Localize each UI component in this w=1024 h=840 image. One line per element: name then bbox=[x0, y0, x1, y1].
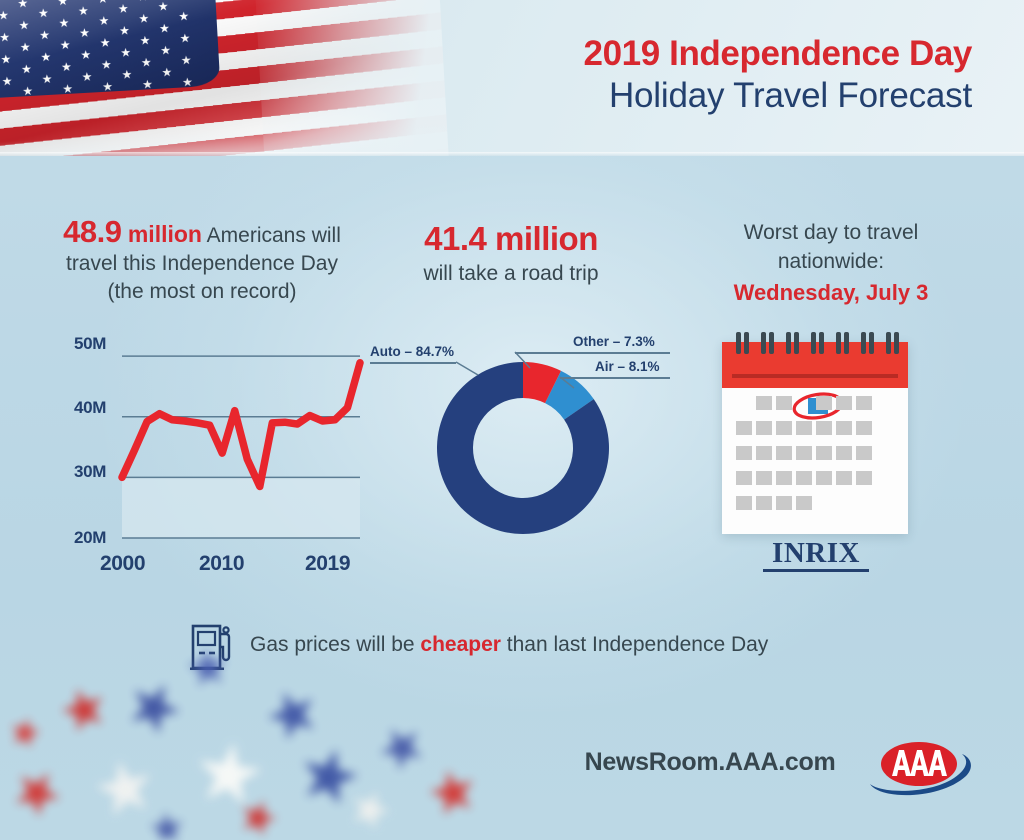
line-chart-svg bbox=[60, 328, 370, 578]
stat-total-number: 48.9 bbox=[63, 214, 121, 249]
stat-total-line-3: (the most on record) bbox=[28, 278, 376, 306]
stat-worst-day-line-2: nationwide: bbox=[676, 247, 986, 276]
donut-leader-air bbox=[560, 377, 670, 379]
stat-worst-day-line-1: Worst day to travel bbox=[676, 218, 986, 247]
donut-label-other: Other – 7.3% bbox=[573, 334, 655, 349]
donut-leader-other bbox=[515, 352, 670, 354]
header-banner: ★★★★★★★★★★★★★★★★★★★★★★★★★★★★★★★★★★★★★★★★… bbox=[0, 0, 1024, 156]
donut-label-auto: Auto – 84.7% bbox=[370, 344, 454, 359]
aaa-logo bbox=[866, 728, 976, 804]
travel-volume-line-chart: 50M 40M 30M 20M 2000 2010 2019 bbox=[60, 328, 370, 578]
donut-leader-auto bbox=[370, 362, 456, 364]
x-tick-2010: 2010 bbox=[199, 552, 244, 576]
inrix-logo: INRIX bbox=[706, 538, 926, 572]
stat-total-rest: Americans will bbox=[202, 224, 341, 247]
stat-road-trip-subtitle: will take a road trip bbox=[423, 262, 598, 285]
y-tick-30m: 30M bbox=[74, 462, 106, 482]
stat-total-unit: million bbox=[128, 221, 202, 247]
inrix-wordmark: INRIX bbox=[706, 538, 926, 568]
usa-flag-photo: ★★★★★★★★★★★★★★★★★★★★★★★★★★★★★★★★★★★★★★★★… bbox=[0, 0, 449, 156]
calendar-icon bbox=[722, 342, 908, 534]
stat-total-line-2: travel this Independence Day bbox=[28, 250, 376, 278]
title-line-2: Holiday Travel Forecast bbox=[584, 74, 972, 118]
newsroom-url: NewsRoom.AAA.com bbox=[560, 748, 860, 777]
travel-mode-donut-chart: Auto – 84.7% Other – 7.3% Air – 8.1% bbox=[370, 326, 670, 578]
y-tick-40m: 40M bbox=[74, 398, 106, 418]
y-tick-20m: 20M bbox=[74, 528, 106, 548]
x-tick-2019: 2019 bbox=[305, 552, 350, 576]
inrix-underline bbox=[763, 569, 869, 572]
infographic-root: ★★★★★★★★★★★★★★★★★★★★★★★★★★★★★★★★★★★★★★★★… bbox=[0, 0, 1024, 840]
stat-total-travelers: 48.9 million Americans will travel this … bbox=[28, 218, 376, 306]
calendar-illustration: INRIX bbox=[706, 332, 926, 582]
header-divider bbox=[0, 152, 1024, 156]
header-title: 2019 Independence Day Holiday Travel For… bbox=[584, 34, 972, 118]
gas-text-after: than last Independence Day bbox=[501, 633, 768, 656]
stat-total-line-1: 48.9 million Americans will bbox=[28, 218, 376, 250]
stat-road-trip: 41.4 million will take a road trip bbox=[380, 218, 642, 288]
stat-road-trip-number: 41.4 million bbox=[380, 218, 642, 260]
y-tick-50m: 50M bbox=[74, 334, 106, 354]
stat-worst-day: Worst day to travel nationwide: Wednesda… bbox=[676, 218, 986, 307]
stat-worst-day-value: Wednesday, July 3 bbox=[676, 278, 986, 307]
donut-label-air: Air – 8.1% bbox=[595, 359, 660, 374]
star-confetti-photo bbox=[0, 630, 520, 840]
calendar-date-grid bbox=[736, 396, 896, 521]
x-tick-2000: 2000 bbox=[100, 552, 145, 576]
calendar-header-line bbox=[732, 374, 898, 378]
title-line-1: 2019 Independence Day bbox=[584, 34, 972, 74]
